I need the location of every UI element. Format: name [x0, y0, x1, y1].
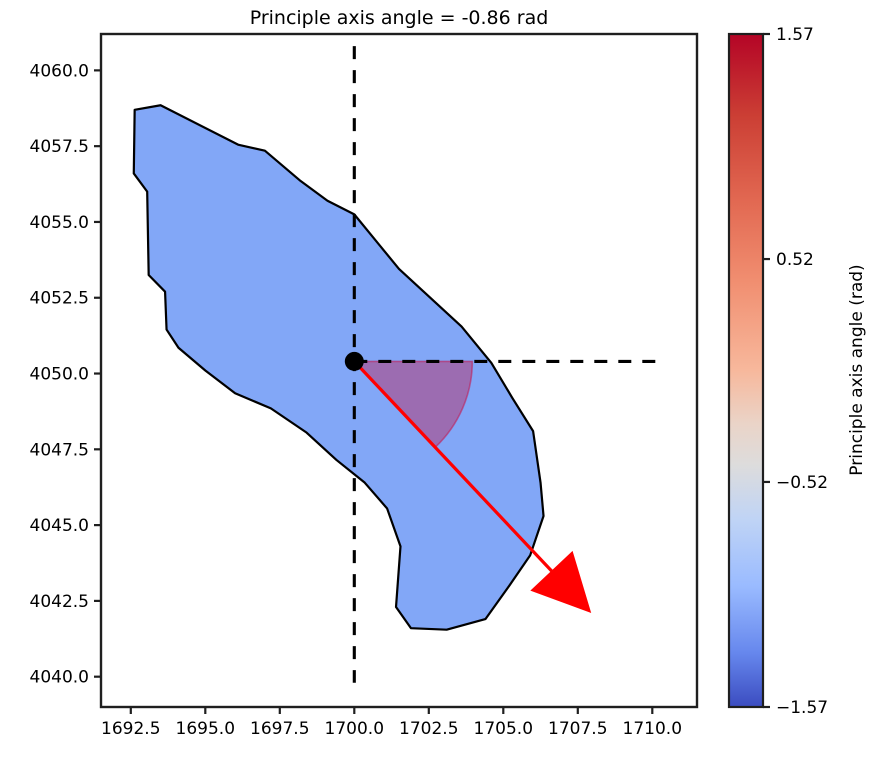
colorbar-tick-label: 1.57 [776, 25, 814, 45]
colorbar-ticks: 1.570.52−0.52−1.57 [763, 25, 828, 718]
colorbar-gradient[interactable] [729, 34, 763, 707]
colorbar-svg[interactable]: 1.570.52−0.52−1.57 Principle axis angle … [0, 0, 883, 758]
colorbar-tick-label: 0.52 [776, 250, 814, 270]
colorbar-tick-label: −0.52 [776, 473, 828, 493]
figure-canvas: Principle axis angle = -0.86 rad [0, 0, 883, 758]
colorbar-label: Principle axis angle (rad) [847, 264, 867, 475]
colorbar-tick-label: −1.57 [776, 698, 828, 718]
